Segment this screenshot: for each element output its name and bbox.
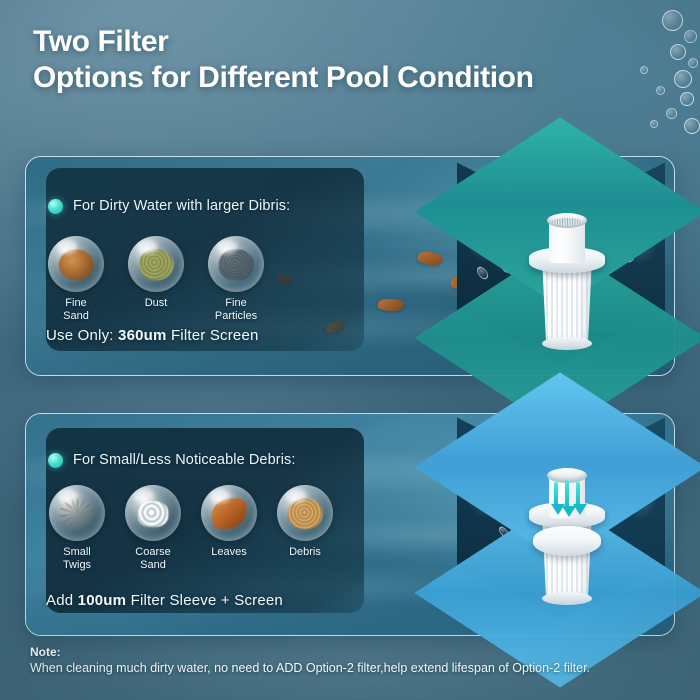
- option-1-item-list: FineSand Dust FineParticles: [48, 236, 264, 322]
- leaves-sphere-icon: [201, 485, 257, 541]
- use-value: 100um: [78, 592, 127, 609]
- fine-sand-sphere-icon: [48, 236, 104, 292]
- item-label: Leaves: [211, 546, 246, 559]
- bubble-icon: [674, 70, 692, 88]
- coarse-sand-sphere-icon: [125, 485, 181, 541]
- use-suffix: Filter Screen: [171, 327, 259, 344]
- bubble-icon: [666, 108, 677, 119]
- bubble-icon: [684, 30, 697, 43]
- note-body: When cleaning much dirty water, no need …: [30, 660, 590, 676]
- option-2-header-row: For Small/Less Noticeable Debris:: [48, 452, 296, 468]
- title-line-1: Two Filter: [33, 24, 534, 60]
- bubble-icon: [688, 58, 698, 68]
- option-2-recommendation: Add 100um Filter Sleeve + Screen: [46, 592, 283, 609]
- list-item: SmallTwigs: [48, 485, 106, 571]
- title-line-2: Options for Different Pool Condition: [33, 60, 534, 96]
- item-label: Dust: [145, 297, 168, 310]
- footer-note: Note: When cleaning much dirty water, no…: [30, 645, 590, 676]
- dust-sphere-icon: [128, 236, 184, 292]
- filter-cartridge-option-1: [529, 213, 605, 351]
- use-prefix: Use Only:: [46, 327, 114, 344]
- use-prefix: Add: [46, 592, 73, 609]
- option-1-recommendation: Use Only: 360um Filter Screen: [46, 327, 259, 344]
- fine-particles-sphere-icon: [208, 236, 264, 292]
- list-item: Leaves: [200, 485, 258, 571]
- bubble-icon: [640, 66, 648, 74]
- small-twigs-sphere-icon: [49, 485, 105, 541]
- bubbles-decoration: [610, 0, 700, 150]
- filter-base: [542, 592, 592, 605]
- list-item: Dust: [128, 236, 184, 322]
- option-1-header-text: For Dirty Water with larger Dibris:: [73, 198, 290, 214]
- option-1-cube-scene: [443, 161, 678, 386]
- bubble-icon: [680, 92, 694, 106]
- item-label: FineParticles: [215, 297, 257, 322]
- page-title: Two Filter Options for Different Pool Co…: [33, 24, 534, 96]
- bubble-icon: [670, 44, 686, 60]
- item-label: Debris: [289, 546, 321, 559]
- bubble-icon: [684, 118, 700, 134]
- option-1-header-row: For Dirty Water with larger Dibris:: [48, 198, 290, 214]
- infographic-canvas: Two Filter Options for Different Pool Co…: [0, 0, 700, 700]
- filter-sleeve: [533, 526, 601, 556]
- bubble-icon: [477, 265, 488, 282]
- list-item: FineParticles: [208, 236, 264, 322]
- use-value: 360um: [118, 327, 167, 344]
- option-2-item-list: SmallTwigs CoarseSand Leaves Debris: [48, 485, 334, 571]
- item-label: CoarseSand: [135, 546, 170, 571]
- filter-mesh-screen: [552, 218, 582, 226]
- bullet-dot-icon: [48, 453, 63, 468]
- filter-base: [542, 337, 592, 350]
- item-label: FineSand: [63, 297, 89, 322]
- note-label: Note:: [30, 645, 590, 660]
- bullet-dot-icon: [48, 199, 63, 214]
- option-2-cube-scene: [443, 416, 678, 641]
- list-item: CoarseSand: [124, 485, 182, 571]
- bubble-icon: [656, 86, 665, 95]
- list-item: Debris: [276, 485, 334, 571]
- bubble-icon: [662, 10, 683, 31]
- use-suffix: Filter Sleeve + Screen: [131, 592, 283, 609]
- bubble-icon: [650, 120, 658, 128]
- option-2-header-text: For Small/Less Noticeable Debris:: [73, 452, 296, 468]
- list-item: FineSand: [48, 236, 104, 322]
- filter-cartridge-option-2: [529, 468, 605, 606]
- debris-sphere-icon: [277, 485, 333, 541]
- item-label: SmallTwigs: [63, 546, 91, 571]
